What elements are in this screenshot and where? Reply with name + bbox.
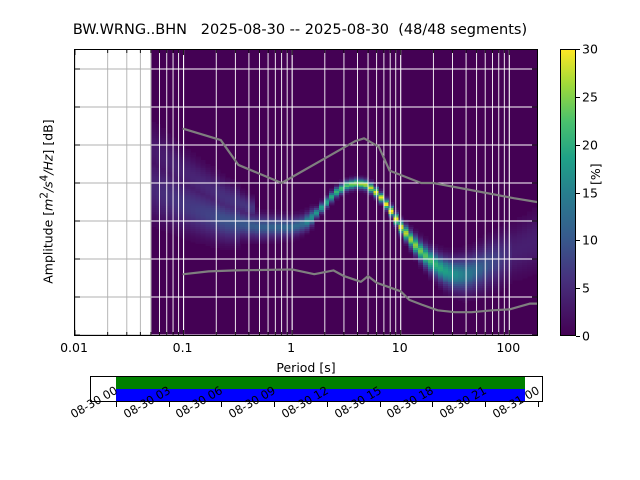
colorbar-tick-label: 10 [582,233,598,248]
x-tick-label: 0.1 [173,340,193,355]
timeline-tick [169,402,170,407]
y-axis-label: Amplitude [m2/s4/Hz] [dB] [38,72,55,332]
ppsd-plot-area[interactable] [74,49,538,336]
timeline-tick [274,402,275,407]
colorbar-tick-label: 25 [582,89,598,104]
colorbar-tick [576,49,580,50]
x-tick-label: 1 [287,340,295,355]
colorbar-tick-label: 15 [582,185,598,200]
colorbar-tick-label: 5 [582,281,590,296]
timeline-tick [116,402,117,407]
colorbar-tick [576,145,580,146]
colorbar-tick-label: 0 [582,329,590,344]
timeline-tick [380,402,381,407]
colorbar-tick [576,97,580,98]
colorbar-tick [576,288,580,289]
colorbar-tick-label: 30 [582,42,598,57]
colorbar-tick [576,240,580,241]
colorbar-tick [576,193,580,194]
colorbar-label: [%] [588,145,603,185]
timeline-tick [327,402,328,407]
timeline-tick [221,402,222,407]
ppsd-canvas [75,50,537,335]
x-tick-label: 100 [496,340,520,355]
timeline-tick [538,402,539,407]
timeline-tick [432,402,433,407]
timeline-tick [485,402,486,407]
x-tick-label: 0.01 [60,340,88,355]
page-title: BW.WRNG..BHN 2025-08-30 -- 2025-08-30 (4… [0,22,600,38]
ppsd-figure: BW.WRNG..BHN 2025-08-30 -- 2025-08-30 (4… [0,0,640,480]
x-tick-label: 10 [392,340,408,355]
colorbar [560,49,576,336]
colorbar-tick [576,336,580,337]
x-axis-label: Period [s] [74,360,538,375]
